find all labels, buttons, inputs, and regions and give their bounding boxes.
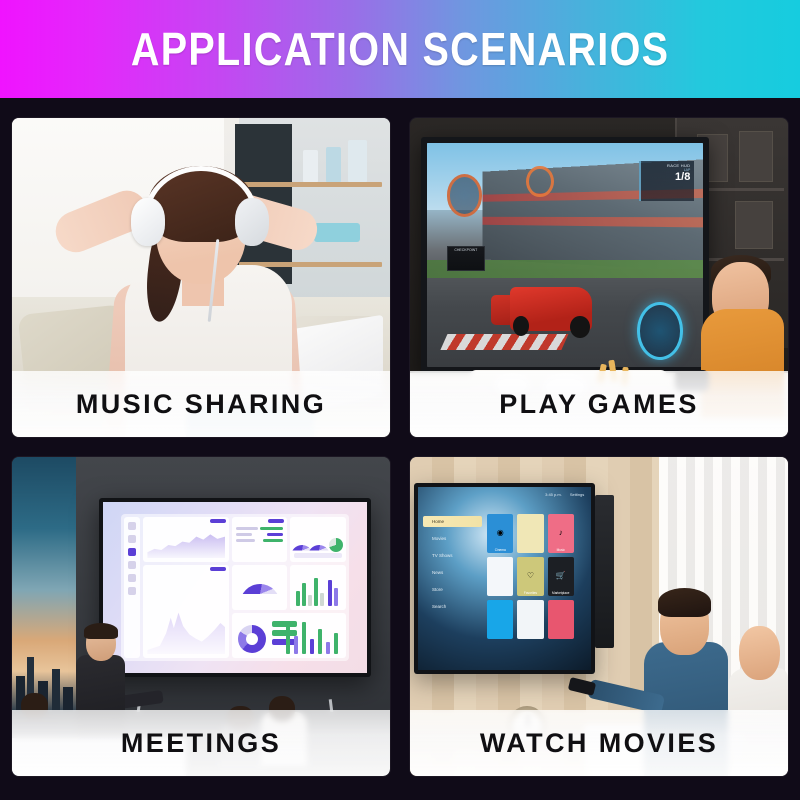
tv-clock: 3:45 p.m. — [545, 492, 562, 497]
metric-bar-1 — [260, 527, 283, 530]
dashboard-sidebar[interactable] — [124, 517, 140, 658]
panel-half-gauge — [232, 565, 287, 610]
tv-tile-cinema[interactable]: ◉ Cinema — [487, 514, 513, 553]
car-wheel-2 — [570, 316, 589, 338]
page-title: APPLICATION SCENARIOS — [131, 22, 669, 76]
panel-gauges — [290, 517, 345, 562]
panel-timeseries — [143, 565, 229, 658]
caption-text: PLAY GAMES — [499, 389, 699, 420]
gauge-donut — [329, 538, 343, 552]
billboard-text: CHECKPOINT — [448, 247, 485, 252]
caption-text: WATCH MOVIES — [480, 728, 718, 759]
bar-1 — [296, 591, 300, 606]
sidebar-icon-settings[interactable] — [128, 574, 136, 582]
film-icon: ◉ — [497, 529, 504, 537]
shelf-box — [314, 223, 359, 242]
caption-text: MUSIC SHARING — [76, 389, 326, 420]
gauge-progress-track — [294, 553, 341, 558]
scenario-card-meetings[interactable]: MEETINGS — [12, 457, 390, 776]
metric-row-1 — [236, 527, 258, 530]
metric-bar-3 — [263, 539, 283, 542]
presenter-hair — [84, 623, 118, 639]
tv-tile-4[interactable] — [487, 557, 513, 596]
donut-chart — [238, 625, 266, 653]
bar-5 — [320, 593, 324, 606]
bar-3 — [308, 595, 312, 606]
caption-watch-movies: WATCH MOVIES — [410, 710, 788, 776]
caption-music-sharing: MUSIC SHARING — [12, 371, 390, 437]
metric-row-3 — [236, 539, 255, 542]
game-kerb — [440, 334, 568, 350]
building-4 — [52, 669, 60, 713]
tv-menu-item-search[interactable]: Search — [423, 601, 482, 612]
tv-menu-item-news[interactable]: News — [423, 567, 482, 578]
tv-tile-2[interactable] — [517, 514, 543, 553]
poster-root: APPLICATION SCENARIOS — [0, 0, 800, 800]
hud-lap-counter: 1/8 — [645, 172, 690, 183]
metric-row-2 — [236, 533, 251, 536]
dashboard-app — [121, 514, 348, 661]
shelf-bottle-2 — [326, 147, 341, 182]
dashboard-screen — [103, 502, 367, 673]
heart-icon: ♡ — [527, 572, 534, 580]
mini-bar-2 — [294, 636, 298, 654]
panel-chip — [210, 519, 226, 523]
caption-meetings: MEETINGS — [12, 710, 390, 776]
tv-menu-item-store[interactable]: Store — [423, 584, 482, 595]
sidebar-icon-user[interactable] — [128, 522, 136, 530]
tv-tile-7[interactable] — [487, 600, 513, 639]
cabinet-item-1 — [739, 131, 773, 182]
headphone-earcup-left-icon — [131, 198, 165, 246]
metric-bar-2 — [267, 533, 284, 536]
bar-6 — [328, 580, 332, 606]
smart-tv[interactable]: 3:45 p.m. Settings Home Movies TV Shows … — [414, 483, 595, 674]
bar-7 — [334, 588, 338, 606]
bar-2 — [302, 583, 306, 606]
panel-metrics-list — [232, 517, 287, 562]
wall-mounted-tv: CHECKPOINT RACE HUD LAP 1/8 — [421, 137, 708, 373]
sidebar-icon-list[interactable] — [128, 561, 136, 569]
mini-bar-4 — [310, 639, 314, 654]
timeseries-area — [147, 602, 225, 654]
mini-bar-7 — [334, 633, 338, 655]
game-marker-icon — [526, 166, 554, 197]
tv-menu[interactable]: Home Movies TV Shows News Store Search — [423, 516, 482, 618]
tv-tile-8[interactable] — [517, 600, 543, 639]
game-hud-panel: RACE HUD LAP 1/8 — [639, 161, 694, 201]
sidebar-icon-help[interactable] — [128, 587, 136, 595]
scenario-card-play-games[interactable]: CHECKPOINT RACE HUD LAP 1/8 — [410, 118, 788, 437]
presentation-display — [99, 498, 371, 677]
dashboard-panels — [143, 517, 345, 658]
shelf-bottle-3 — [303, 150, 318, 182]
panel-chip — [210, 567, 226, 571]
sidebar-icon-chart[interactable] — [128, 535, 136, 543]
panel-donut-and-bars — [232, 613, 346, 658]
panel-bar-chart — [290, 565, 345, 610]
tv-menu-item-movies[interactable]: Movies — [423, 533, 482, 544]
caption-play-games: PLAY GAMES — [410, 371, 788, 437]
cabinet-item-3 — [735, 201, 773, 249]
tv-tile-9[interactable] — [548, 600, 574, 639]
tv-app-tiles: ◉ Cinema ♪ Music ♡ Favorites — [487, 514, 574, 639]
building-5 — [63, 687, 73, 712]
scenario-grid: MUSIC SHARING — [12, 118, 788, 788]
mini-bar-1 — [286, 625, 290, 654]
tv-tile-label: Cinema — [495, 548, 506, 552]
tv-status-bar: 3:45 p.m. Settings — [545, 492, 584, 497]
tv-tile-label: Marketplace — [552, 591, 569, 595]
soundbar-speaker — [595, 495, 614, 648]
half-gauge — [240, 584, 280, 604]
car-wheel-1 — [513, 316, 530, 336]
header-banner: APPLICATION SCENARIOS — [0, 0, 800, 98]
grandstand-stripe-2 — [483, 217, 703, 228]
game-gauge-icon — [447, 174, 483, 217]
bar-4 — [314, 578, 318, 606]
tv-tile-label: Favorites — [524, 591, 537, 595]
game-billboard: CHECKPOINT — [447, 246, 486, 271]
mini-bar-6 — [326, 642, 330, 655]
caption-text: MEETINGS — [121, 728, 281, 759]
man-hair — [658, 588, 711, 617]
music-note-icon: ♪ — [559, 529, 563, 537]
smart-tv-screen: 3:45 p.m. Settings Home Movies TV Shows … — [418, 487, 591, 670]
shelf-bottle-1 — [348, 140, 367, 181]
woman-head — [739, 626, 781, 680]
tv-tile-favorites[interactable]: ♡ Favorites — [517, 557, 543, 596]
wood-shelf-upper — [239, 182, 383, 187]
tv-menu-item-home[interactable]: Home — [423, 516, 482, 527]
panel-trend-area — [143, 517, 229, 562]
mini-bar-5 — [318, 629, 322, 654]
cart-icon: 🛒 — [556, 572, 566, 580]
tv-tile-music[interactable]: ♪ Music — [548, 514, 574, 553]
tv-tile-label: Music — [557, 548, 565, 552]
tv-tile-marketplace[interactable]: 🛒 Marketplace — [548, 557, 574, 596]
scenario-card-watch-movies[interactable]: 3:45 p.m. Settings Home Movies TV Shows … — [410, 457, 788, 776]
tv-settings-label: Settings — [570, 492, 584, 497]
scenario-card-music-sharing[interactable]: MUSIC SHARING — [12, 118, 390, 437]
tv-menu-item-tv-shows[interactable]: TV Shows — [423, 550, 482, 561]
panel-chip — [268, 519, 284, 523]
headphone-earcup-right-icon — [235, 198, 269, 246]
tv-screen: CHECKPOINT RACE HUD LAP 1/8 — [427, 143, 702, 367]
sidebar-icon-dashboard[interactable] — [128, 548, 136, 556]
mini-bar-3 — [302, 622, 306, 654]
legend-pill-1 — [272, 621, 297, 627]
